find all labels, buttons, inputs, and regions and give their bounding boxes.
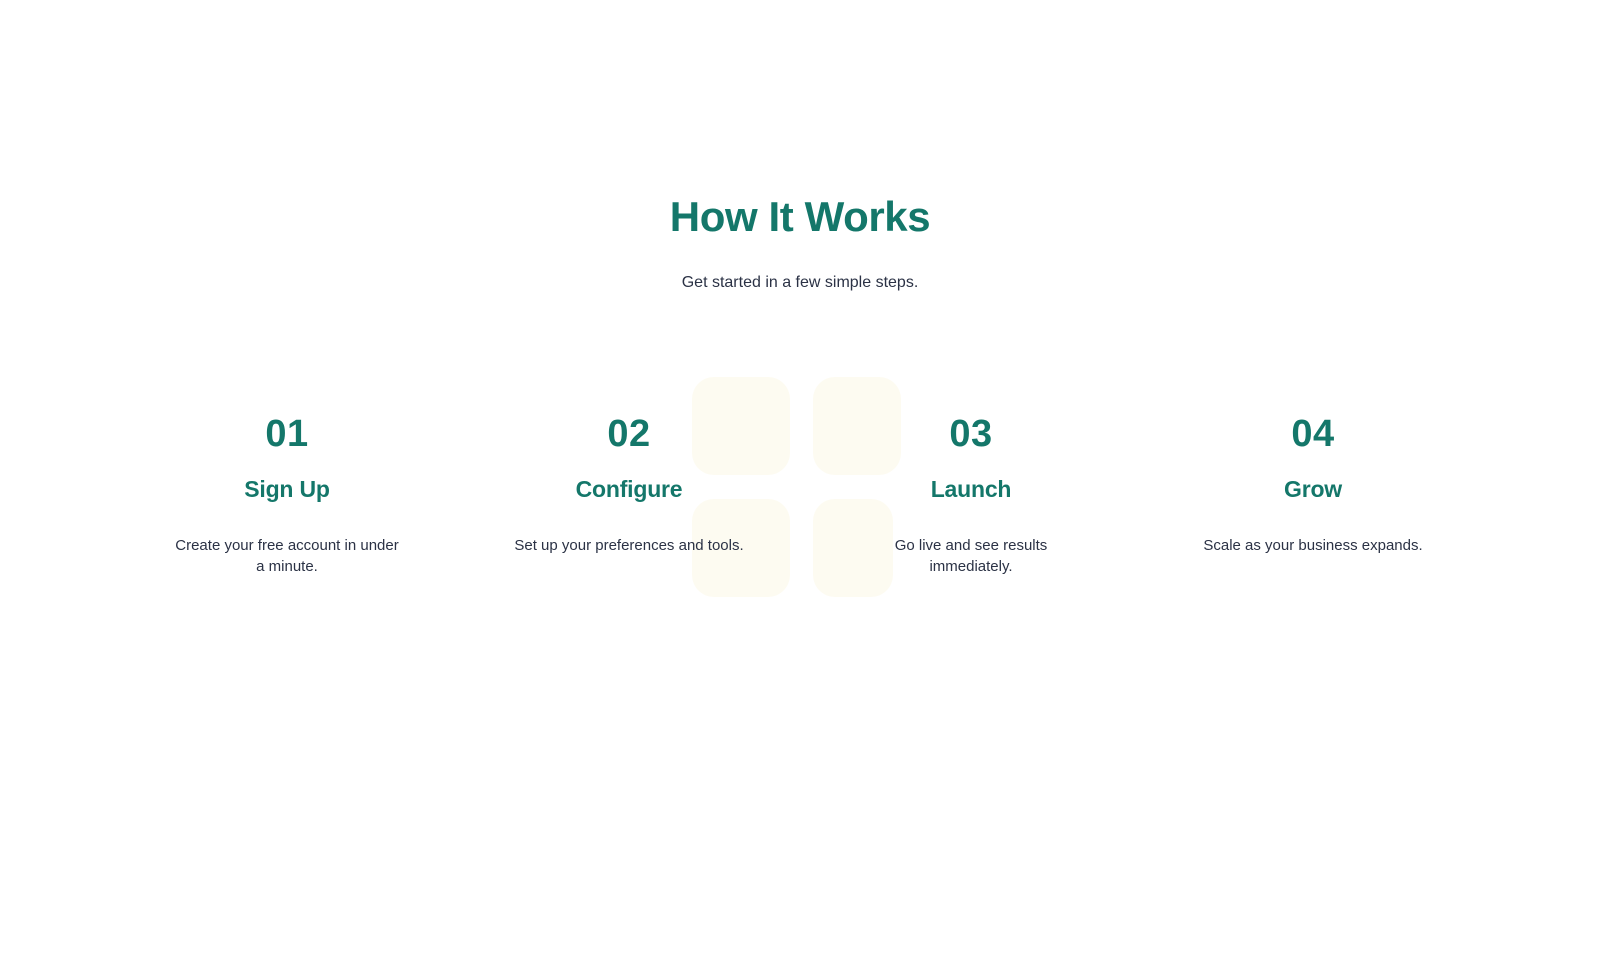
step-description: Go live and see results immediately.: [855, 535, 1087, 578]
step-card-1: 01 Sign Up Create your free account in u…: [116, 415, 458, 577]
step-number: 04: [1291, 415, 1334, 455]
step-title: Grow: [1284, 476, 1342, 504]
how-it-works-section: How It Works Get started in a few simple…: [0, 0, 1600, 577]
step-card-2: 02 Configure Set up your preferences and…: [458, 415, 800, 577]
page-title: How It Works: [0, 193, 1600, 240]
step-number: 03: [949, 415, 992, 455]
step-title: Configure: [576, 476, 683, 504]
step-title: Sign Up: [244, 476, 329, 504]
step-description: Create your free account in under a minu…: [171, 535, 403, 578]
section-subtitle: Get started in a few simple steps.: [0, 240, 1600, 295]
step-description: Set up your preferences and tools.: [514, 535, 743, 556]
step-title: Launch: [931, 476, 1012, 504]
step-number: 02: [607, 415, 650, 455]
step-card-4: 04 Grow Scale as your business expands.: [1142, 415, 1484, 577]
step-description: Scale as your business expands.: [1203, 535, 1422, 556]
step-card-3: 03 Launch Go live and see results immedi…: [800, 415, 1142, 577]
step-number: 01: [265, 415, 308, 455]
steps-grid: 01 Sign Up Create your free account in u…: [116, 295, 1484, 577]
